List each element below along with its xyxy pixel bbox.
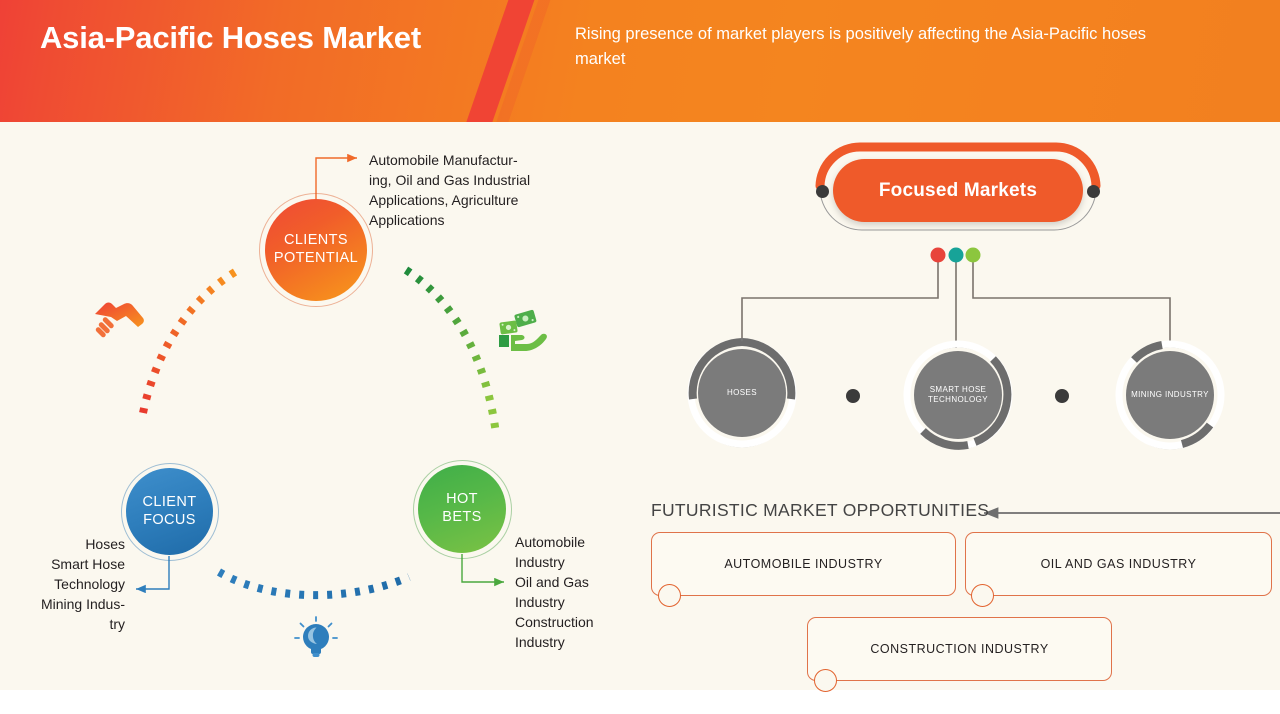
opportunity-automobile-industry-dot — [658, 584, 681, 607]
bubble-client-focus[interactable]: CLIENT FOCUS — [126, 468, 213, 555]
header-subtitle: Rising presence of market players is pos… — [575, 22, 1195, 72]
node-mining-industry[interactable]: MINING INDUSTRY — [1126, 351, 1214, 439]
node-smart-hose-technology[interactable]: SMART HOSE TECHNOLOGY — [914, 351, 1002, 439]
hot-bets-label-line2: BETS — [442, 509, 481, 527]
client-focus-label-line1: CLIENT — [143, 494, 197, 512]
opportunity-oil-and-gas-industry[interactable]: OIL AND GAS INDUSTRY — [965, 532, 1272, 596]
infographic-root: Asia-Pacific Hoses Market Rising presenc… — [0, 0, 1280, 714]
opportunity-automobile-industry[interactable]: AUTOMOBILE INDUSTRY — [651, 532, 956, 596]
hot-bets-label-line1: HOT — [442, 491, 481, 509]
focused-markets-button[interactable]: Focused Markets — [833, 159, 1083, 222]
focused-markets-dot-left — [816, 185, 829, 198]
opportunity-oil-and-gas-industry-dot — [971, 584, 994, 607]
node-hoses[interactable]: HOSES — [698, 349, 786, 437]
client-focus-label-line2: FOCUS — [143, 512, 197, 530]
focused-markets-dot-right — [1087, 185, 1100, 198]
page-title: Asia-Pacific Hoses Market — [40, 18, 470, 58]
opportunity-construction-industry[interactable]: CONSTRUCTION INDUSTRY — [807, 617, 1112, 681]
note-client-focus: HosesSmart Hose TechnologyMining Indus-t… — [20, 534, 125, 634]
node-mining-industry-label: MINING INDUSTRY — [1131, 390, 1209, 400]
clients-potential-label-line2: POTENTIAL — [274, 250, 358, 268]
header-banner: Asia-Pacific Hoses Market Rising presenc… — [0, 0, 1280, 122]
node-smart-hose-label-line2: TECHNOLOGY — [928, 395, 988, 405]
note-clients-potential: Automobile Manufactur-ing, Oil and Gas I… — [369, 150, 549, 230]
opportunity-oil-and-gas-industry-label: OIL AND GAS INDUSTRY — [1041, 557, 1197, 571]
bubble-clients-potential[interactable]: CLIENTS POTENTIAL — [265, 199, 367, 301]
note-hot-bets: Automobile IndustryOil and Gas IndustryC… — [515, 532, 625, 652]
opportunity-construction-industry-label: CONSTRUCTION INDUSTRY — [870, 642, 1048, 656]
focused-markets-group: Focused Markets — [808, 145, 1108, 245]
node-hoses-label: HOSES — [727, 388, 757, 398]
node-smart-hose-label-line1: SMART HOSE — [928, 385, 988, 395]
opportunity-automobile-industry-label: AUTOMOBILE INDUSTRY — [724, 557, 882, 571]
bubble-hot-bets[interactable]: HOT BETS — [418, 465, 506, 553]
opportunities-title: FUTURISTIC MARKET OPPORTUNITIES — [651, 500, 989, 521]
clients-potential-label-line1: CLIENTS — [274, 232, 358, 250]
opportunity-construction-industry-dot — [814, 669, 837, 692]
